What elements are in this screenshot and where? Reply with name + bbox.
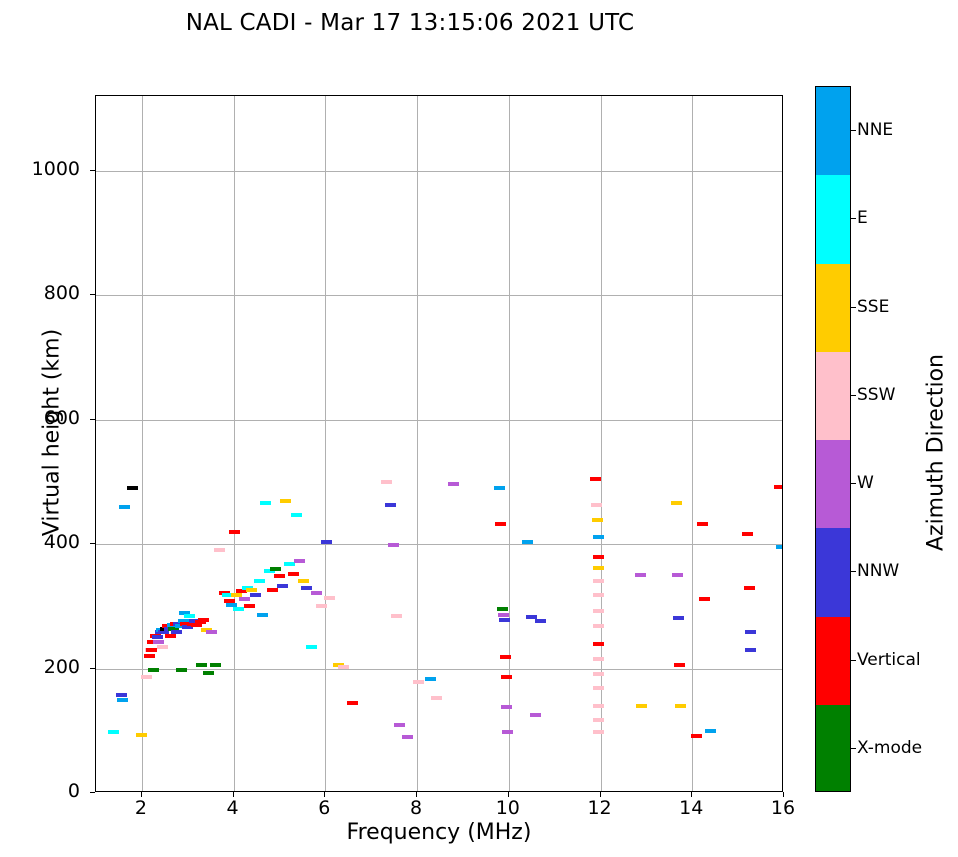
x-tick-mark [783,792,784,797]
data-mark [592,518,603,522]
colorbar [815,86,851,792]
data-mark [745,648,756,652]
data-mark [321,540,332,544]
data-mark [705,729,716,733]
data-mark [246,588,257,592]
gridline-horizontal [96,669,782,670]
data-mark [324,596,335,600]
data-mark [144,654,155,658]
data-mark [347,701,358,705]
data-mark [176,668,187,672]
data-mark [673,616,684,620]
x-tick-label: 16 [753,797,813,819]
data-mark [119,505,130,509]
gridline-vertical [692,96,693,791]
colorbar-segment [816,175,850,263]
x-tick-mark [508,792,509,797]
data-mark [494,486,505,490]
data-mark [141,675,152,679]
data-mark [152,635,163,639]
data-mark [198,618,209,622]
data-mark [535,619,546,623]
x-tick-label: 10 [478,797,538,819]
data-mark [257,613,268,617]
data-mark [502,730,513,734]
gridline-vertical [325,96,326,791]
data-mark [274,574,285,578]
data-mark [146,648,157,652]
data-mark [671,501,682,505]
y-tick-mark [90,668,95,669]
colorbar-tick [851,571,856,572]
data-mark [108,730,119,734]
x-tick-mark [324,792,325,797]
colorbar-tick [851,483,856,484]
data-mark [744,586,755,590]
data-mark [381,480,392,484]
colorbar-label-ssw: SSW [857,385,895,405]
colorbar-segment [816,617,850,705]
y-tick-mark [90,543,95,544]
y-tick-label: 200 [0,656,80,678]
data-mark [233,607,244,611]
gridline-horizontal [96,420,782,421]
data-mark [338,665,349,669]
data-mark [691,734,702,738]
x-tick-label: 6 [294,797,354,819]
colorbar-label-x-mode: X-mode [857,738,922,758]
x-tick-mark [416,792,417,797]
colorbar-segment [816,440,850,528]
data-mark [291,513,302,517]
data-mark [672,573,683,577]
colorbar-label-w: W [857,473,874,493]
data-mark [402,735,413,739]
data-mark [674,663,685,667]
x-tick-mark [141,792,142,797]
data-mark [311,591,322,595]
data-mark [260,501,271,505]
x-tick-mark [600,792,601,797]
gridline-horizontal [96,295,782,296]
x-tick-label: 8 [386,797,446,819]
page-title: NAL CADI - Mar 17 13:15:06 2021 UTC [0,10,820,36]
x-tick-label: 12 [570,797,630,819]
data-mark [394,723,405,727]
data-mark [448,482,459,486]
data-mark [499,618,510,622]
data-mark [136,733,147,737]
data-mark [148,668,159,672]
y-tick-mark [90,419,95,420]
data-mark [593,686,604,690]
data-mark [593,642,604,646]
data-mark [500,655,511,659]
gridline-vertical [234,96,235,791]
data-mark [776,545,783,549]
colorbar-label-nne: NNE [857,120,893,140]
x-tick-mark [233,792,234,797]
data-mark [774,485,783,489]
data-mark [590,477,601,481]
data-mark [277,584,288,588]
data-mark [593,672,604,676]
colorbar-title: Azimuth Direction [924,243,949,663]
data-mark [742,532,753,536]
data-mark [593,566,604,570]
colorbar-label-vertical: Vertical [857,650,921,670]
colorbar-label-sse: SSE [857,297,889,317]
colorbar-tick [851,660,856,661]
data-mark [203,671,214,675]
data-mark [745,630,756,634]
data-mark [157,645,168,649]
data-mark [593,579,604,583]
y-tick-mark [90,170,95,171]
data-mark [636,704,647,708]
data-mark [206,630,217,634]
colorbar-tick [851,130,856,131]
colorbar-tick [851,395,856,396]
data-mark [501,705,512,709]
data-mark [697,522,708,526]
data-mark [288,572,299,576]
gridline-vertical [509,96,510,791]
data-mark [250,593,261,597]
data-mark [593,718,604,722]
data-mark [593,609,604,613]
data-mark [184,614,195,618]
data-mark [675,704,686,708]
data-mark [385,503,396,507]
data-mark [229,530,240,534]
colorbar-tick [851,748,856,749]
x-axis-label: Frequency (MHz) [95,820,783,845]
y-tick-label: 0 [0,780,80,802]
data-mark [593,593,604,597]
gridline-vertical [142,96,143,791]
data-mark [591,503,602,507]
data-mark [501,675,512,679]
colorbar-tick [851,218,856,219]
data-mark [413,680,424,684]
data-mark [171,630,182,634]
data-mark [530,713,541,717]
data-mark [497,607,508,611]
data-mark [498,613,509,617]
data-mark [593,535,604,539]
colorbar-segment [816,87,850,175]
data-mark [593,704,604,708]
data-mark [196,663,207,667]
plot-area [95,95,783,792]
data-mark [593,555,604,559]
data-mark [699,597,710,601]
colorbar-segment [816,352,850,440]
data-mark [593,624,604,628]
data-mark [431,696,442,700]
data-mark [593,657,604,661]
gridline-vertical [417,96,418,791]
y-tick-label: 400 [0,531,80,553]
data-mark [593,730,604,734]
y-tick-mark [90,294,95,295]
colorbar-label-nnw: NNW [857,561,899,581]
data-mark [301,586,312,590]
x-tick-label: 4 [203,797,263,819]
data-mark [244,604,255,608]
data-mark [316,604,327,608]
data-mark [495,522,506,526]
gridline-horizontal [96,544,782,545]
y-tick-label: 800 [0,282,80,304]
data-mark [294,559,305,563]
data-mark [388,543,399,547]
x-tick-mark [691,792,692,797]
data-mark [117,698,128,702]
data-mark [635,573,646,577]
data-mark [425,677,436,681]
colorbar-segment [816,264,850,352]
data-mark [267,588,278,592]
gridline-horizontal [96,171,782,172]
data-mark [254,579,265,583]
data-mark [210,663,221,667]
data-mark [522,540,533,544]
colorbar-label-e: E [857,208,868,228]
data-mark [270,567,281,571]
colorbar-segment [816,528,850,616]
colorbar-tick [851,307,856,308]
data-mark [127,486,138,490]
colorbar-segment [816,705,850,792]
data-mark [214,548,225,552]
x-tick-label: 14 [661,797,721,819]
data-mark [280,499,291,503]
data-mark [239,597,250,601]
y-tick-mark [90,792,95,793]
y-tick-label: 1000 [0,158,80,180]
data-mark [306,645,317,649]
figure-canvas: NAL CADI - Mar 17 13:15:06 2021 UTC Freq… [0,0,958,857]
x-tick-label: 2 [111,797,171,819]
data-mark [391,614,402,618]
data-mark [298,579,309,583]
y-tick-label: 600 [0,407,80,429]
